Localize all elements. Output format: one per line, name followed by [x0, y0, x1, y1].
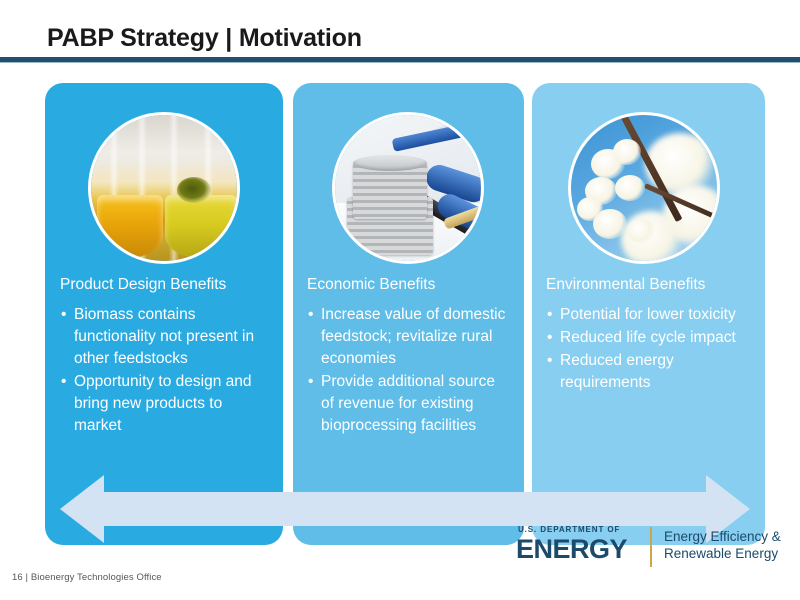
list-item: Biomass contains functionality not prese… — [60, 304, 272, 370]
list-item: Opportunity to design and bring new prod… — [60, 371, 272, 437]
doe-logo: U.S. DEPARTMENT OF ENERGY Energy Efficie… — [516, 526, 788, 572]
panel-heading-economic: Economic Benefits — [307, 276, 435, 295]
list-item: Potential for lower toxicity — [546, 304, 752, 326]
slide-canvas: PABP Strategy | Motivation — [0, 0, 800, 600]
doe-wordmark-block: U.S. DEPARTMENT OF ENERGY — [516, 526, 640, 563]
bullet-list-environmental: Potential for lower toxicity Reduced lif… — [546, 304, 752, 395]
bullet-list-economic: Increase value of domestic feedstock; re… — [307, 304, 512, 438]
list-item: Reduced life cycle impact — [546, 327, 752, 349]
list-item: Increase value of domestic feedstock; re… — [307, 304, 512, 370]
panel-heading-environmental: Environmental Benefits — [546, 276, 705, 295]
page-title: PABP Strategy | Motivation — [47, 24, 362, 53]
bullet-list-product-design: Biomass contains functionality not prese… — [60, 304, 272, 438]
doe-energy-wordmark: ENERGY — [516, 536, 640, 563]
list-item: Provide additional source of revenue for… — [307, 371, 512, 437]
panel-heading-product-design: Product Design Benefits — [60, 276, 226, 295]
white-blossoms-photo — [568, 112, 720, 264]
slide-footer-text: 16 | Bioenergy Technologies Office — [12, 572, 162, 583]
beakers-of-amber-oil-photo — [88, 112, 240, 264]
doe-logo-divider — [650, 527, 652, 567]
doe-tagline-line2: Renewable Energy — [664, 545, 781, 562]
coin-stacks-and-pens-photo — [332, 112, 484, 264]
doe-tagline: Energy Efficiency & Renewable Energy — [664, 528, 781, 563]
list-item: Reduced energy requirements — [546, 350, 752, 394]
doe-tagline-line1: Energy Efficiency & — [664, 528, 781, 545]
doe-department-line: U.S. DEPARTMENT OF — [518, 526, 640, 534]
title-divider-hairline — [0, 62, 800, 63]
